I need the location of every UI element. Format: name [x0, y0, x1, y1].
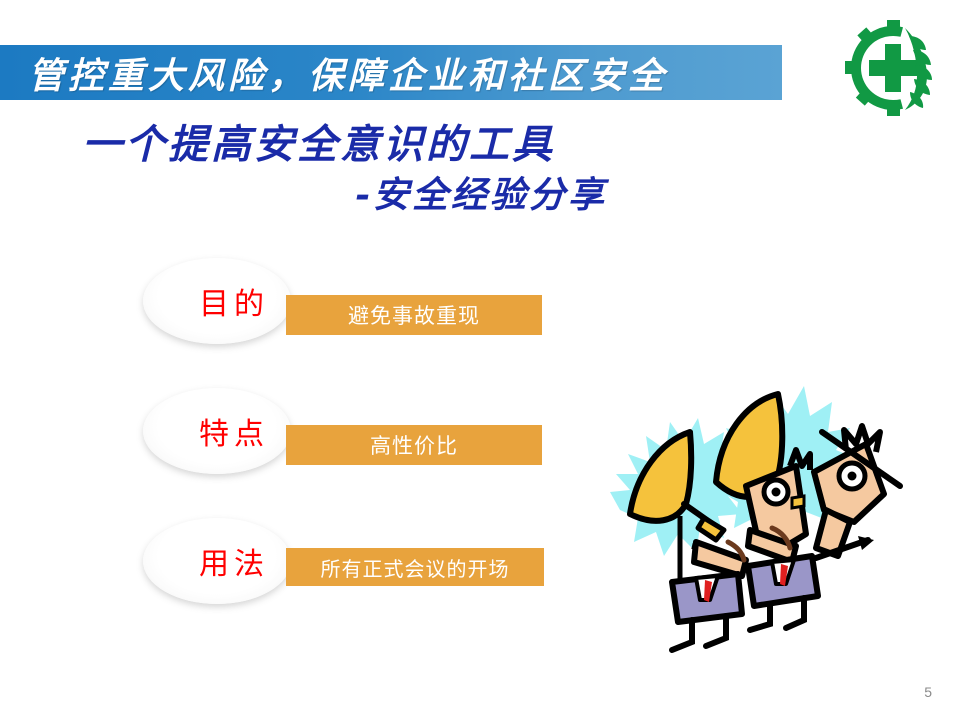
page-title: 一个提高安全意识的工具: [82, 112, 555, 170]
callout-bar-purpose: 避免事故重现: [286, 295, 542, 335]
header-banner: 管控重大风险，保障企业和社区安全: [0, 45, 782, 100]
trumpeters-clipart: [600, 370, 930, 660]
callout-bar-label-usage: 所有正式会议的开场: [321, 553, 510, 582]
oval-label-purpose: 目的: [143, 258, 291, 344]
oval-badge-feature: 特点: [143, 388, 291, 474]
oval-badge-usage: 用法: [143, 518, 291, 604]
oval-badge-purpose: 目的: [143, 258, 291, 344]
header-banner-title: 管控重大风险，保障企业和社区安全: [28, 47, 668, 99]
callout-bar-usage: 所有正式会议的开场: [286, 548, 544, 586]
callout-bar-label-purpose: 避免事故重现: [348, 300, 480, 330]
safety-emblem-logo: [843, 18, 943, 118]
slide-canvas: 管控重大风险，保障企业和社区安全: [0, 0, 960, 720]
page-subtitle: -安全经验分享: [355, 166, 607, 218]
oval-label-usage: 用法: [143, 518, 291, 604]
callout-bar-label-feature: 高性价比: [370, 430, 458, 460]
oval-label-feature: 特点: [143, 388, 291, 474]
page-number: 5: [924, 684, 932, 700]
callout-bar-feature: 高性价比: [286, 425, 542, 465]
